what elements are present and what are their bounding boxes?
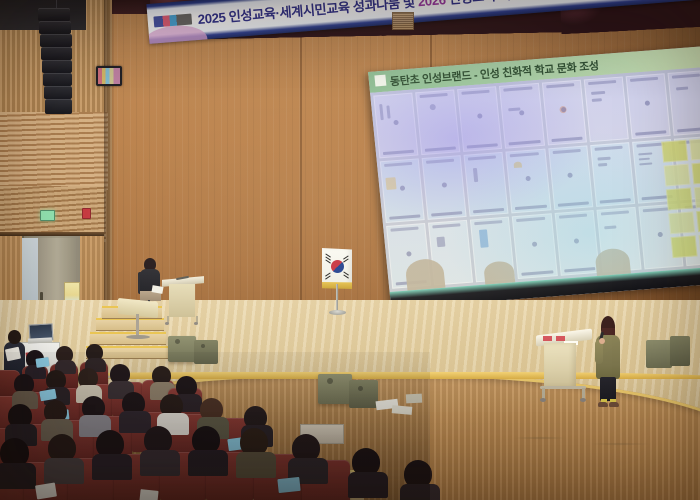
poster-thumbnail bbox=[554, 210, 599, 275]
poster-thumbnail bbox=[428, 220, 473, 285]
monitor-post bbox=[136, 314, 139, 336]
display-content bbox=[98, 68, 120, 84]
audience-member bbox=[404, 460, 438, 500]
sticky-note bbox=[661, 140, 687, 163]
sticky-note bbox=[693, 185, 700, 208]
poster-thumbnail bbox=[457, 86, 502, 151]
sticky-note bbox=[691, 162, 700, 185]
audience-member bbox=[8, 404, 36, 442]
poster-thumbnail bbox=[470, 217, 515, 282]
lectern-body bbox=[544, 343, 576, 387]
audience-member bbox=[56, 346, 76, 372]
floor-monitor-speakers-right bbox=[646, 336, 690, 370]
poster-thumbnail bbox=[541, 80, 586, 145]
poster-thumbnail bbox=[548, 145, 593, 210]
audience-member bbox=[48, 434, 82, 480]
audience-member bbox=[86, 344, 106, 370]
audience-member bbox=[0, 438, 34, 484]
lectern-stage-left bbox=[162, 278, 204, 324]
audience-member bbox=[144, 426, 178, 472]
lectern-emblem bbox=[543, 336, 565, 341]
line-array-speaker bbox=[38, 8, 72, 116]
program-booklet bbox=[277, 477, 300, 493]
poster-thumbnail bbox=[415, 89, 460, 154]
av-operator-head bbox=[8, 330, 21, 344]
held-paper bbox=[139, 489, 158, 500]
taeguk-symbol bbox=[331, 260, 344, 273]
poster-thumbnail bbox=[590, 142, 635, 207]
poster-thumbnail bbox=[422, 155, 467, 220]
projection-screen: 동탄초 인성브랜드 - 인성 친화적 학교 문화 조성 bbox=[368, 46, 700, 309]
audience-member bbox=[82, 396, 110, 434]
wall-mounted-display[interactable] bbox=[96, 66, 122, 86]
sticky-note bbox=[689, 138, 700, 161]
lectern-body bbox=[169, 284, 195, 317]
wall-seam bbox=[300, 8, 302, 308]
poster-thumbnail bbox=[499, 83, 544, 148]
program-booklet bbox=[35, 357, 49, 368]
monitor-base bbox=[126, 335, 150, 339]
poster-thumbnail bbox=[625, 73, 670, 138]
lectern-stage-right bbox=[536, 332, 592, 404]
audience-member bbox=[292, 434, 326, 480]
poster-thumbnail bbox=[596, 207, 641, 272]
poster-thumbnail bbox=[512, 214, 557, 279]
person-hand bbox=[599, 338, 605, 344]
flag-stand-base bbox=[329, 310, 346, 315]
poster-thumbnail bbox=[464, 152, 509, 217]
held-paper bbox=[5, 347, 21, 362]
confidence-monitor bbox=[118, 300, 158, 342]
emergency-exit-sign bbox=[40, 210, 55, 221]
audience-member bbox=[192, 426, 226, 472]
audience-member bbox=[44, 400, 72, 438]
audience-member bbox=[240, 428, 274, 474]
sticky-note bbox=[696, 209, 700, 232]
auditorium-photo: 2025 인성교육·세계시민교육 성과나눔 및 2026 인성교육 시행계획(안… bbox=[0, 0, 700, 500]
person-shoe bbox=[609, 402, 619, 407]
poster-thumbnail bbox=[667, 70, 700, 135]
poster-thumbnail bbox=[373, 93, 418, 158]
poster-thumbnail bbox=[583, 76, 628, 141]
poster-thumbnail bbox=[380, 158, 425, 223]
audience-member bbox=[96, 430, 130, 476]
acoustic-slat-panel bbox=[0, 112, 108, 190]
lectern-rail bbox=[540, 386, 586, 389]
sticky-note bbox=[671, 235, 697, 258]
standing-presenter bbox=[594, 316, 624, 408]
person-legs bbox=[600, 377, 616, 401]
poster-thumbnail bbox=[506, 148, 551, 213]
audience-member bbox=[352, 448, 386, 494]
sticky-note bbox=[664, 164, 690, 187]
audience-seating-area bbox=[0, 352, 430, 500]
stage-floor-cables bbox=[500, 430, 690, 454]
slide-poster-grid bbox=[370, 67, 700, 292]
air-vent-grille bbox=[392, 12, 414, 30]
south-korean-flag-taegukgi bbox=[322, 248, 358, 320]
poster-thumbnail bbox=[386, 223, 431, 288]
audience-member bbox=[122, 392, 150, 430]
sticky-note bbox=[666, 188, 692, 211]
audience-member bbox=[14, 374, 38, 406]
slide-header-marker bbox=[374, 75, 386, 87]
fire-alarm-call-point[interactable] bbox=[82, 208, 91, 219]
sticky-note bbox=[668, 211, 694, 234]
person-shoe bbox=[598, 402, 608, 407]
flag-pole bbox=[336, 284, 338, 312]
